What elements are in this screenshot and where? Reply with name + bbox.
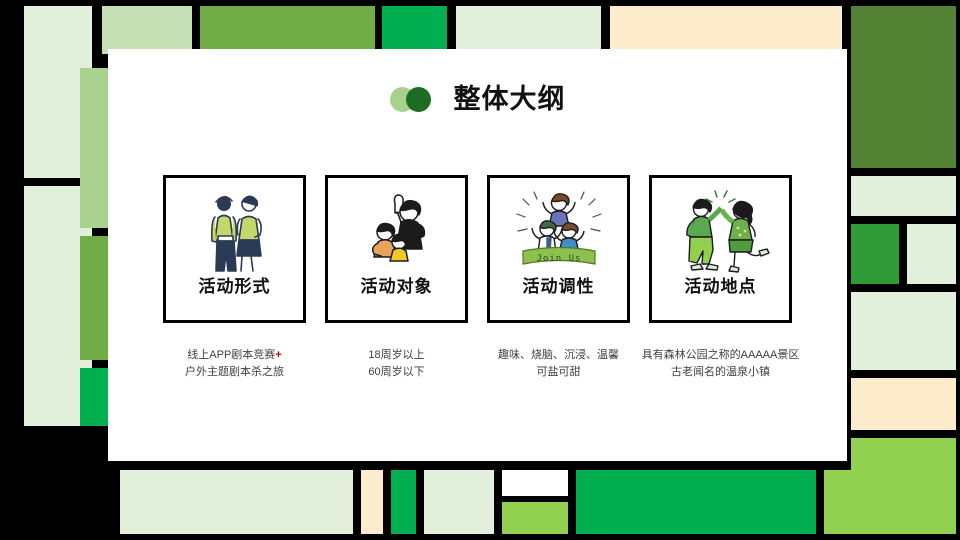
outline-item: 活动形式 线上APP剧本竞赛+ 户外主题剧本杀之旅 [163, 175, 306, 381]
background-tile [456, 6, 601, 54]
background-tile [610, 6, 842, 54]
outline-card-row: 活动形式 线上APP剧本竞赛+ 户外主题剧本杀之旅 [108, 175, 847, 381]
caption-line: 具有森林公园之称的AAAAA景区 [633, 347, 808, 364]
caption-line: 趣味、烧脑、沉浸、温馨 [471, 347, 646, 364]
background-tile [851, 6, 956, 168]
caption-line: 线上APP剧本竞赛 [187, 349, 275, 361]
outline-item: Join Us 活动调性 趣味、烧脑、沉浸、温馨 可盐可甜 [487, 175, 630, 381]
background-tile [907, 224, 956, 284]
caption-line: 60周岁以下 [309, 364, 484, 381]
join-us-team-banner-illustration: Join Us [499, 184, 619, 276]
svg-text:Join Us: Join Us [536, 254, 581, 264]
card-activity-location[interactable]: 活动地点 [649, 175, 792, 323]
background-tile [576, 470, 816, 534]
card-activity-tone[interactable]: Join Us 活动调性 [487, 175, 630, 323]
content-panel: 整体大纲 [108, 49, 847, 461]
background-tile [80, 368, 108, 426]
caption-plus-marker: + [275, 349, 281, 361]
family-cheering-illustration [337, 184, 457, 276]
title-decoration [390, 85, 440, 113]
page-title: 整体大纲 [454, 86, 566, 113]
background-tile [391, 470, 416, 534]
caption-line: 18周岁以上 [309, 347, 484, 364]
two-people-standing-illustration [175, 184, 295, 276]
card-label: 活动形式 [199, 278, 271, 297]
background-tile [424, 470, 494, 534]
slide-canvas: 整体大纲 [0, 0, 960, 540]
background-tile [851, 378, 956, 430]
outline-item: 活动地点 具有森林公园之称的AAAAA景区 古老闻名的温泉小镇 [649, 175, 792, 381]
background-tile [102, 6, 192, 54]
caption-line: 户外主题剧本杀之旅 [147, 364, 322, 381]
card-caption: 18周岁以上 60周岁以下 [309, 347, 484, 381]
card-caption: 趣味、烧脑、沉浸、温馨 可盐可甜 [471, 347, 646, 381]
card-activity-audience[interactable]: 活动对象 [325, 175, 468, 323]
background-tile [120, 470, 353, 534]
caption-line: 古老闻名的温泉小镇 [633, 364, 808, 381]
background-tile [200, 6, 375, 54]
card-caption: 线上APP剧本竞赛+ 户外主题剧本杀之旅 [147, 347, 322, 381]
card-activity-format[interactable]: 活动形式 [163, 175, 306, 323]
background-tile [361, 470, 383, 534]
card-label: 活动对象 [361, 278, 433, 297]
background-tile [80, 68, 108, 228]
background-tile [824, 470, 956, 534]
background-tile [851, 176, 956, 216]
background-tile [80, 236, 108, 360]
background-tile [502, 502, 568, 534]
dark-green-circle-icon [406, 87, 431, 112]
card-caption: 具有森林公园之称的AAAAA景区 古老闻名的温泉小镇 [633, 347, 808, 381]
outline-item: 活动对象 18周岁以上 60周岁以下 [325, 175, 468, 381]
card-label: 活动调性 [523, 278, 595, 297]
card-label: 活动地点 [685, 278, 757, 297]
background-tile [502, 470, 568, 496]
background-tile [382, 6, 447, 54]
slide-title-row: 整体大纲 [108, 85, 847, 113]
caption-line: 可盐可甜 [471, 364, 646, 381]
background-tile [851, 224, 899, 284]
two-people-high-five-illustration [661, 184, 781, 276]
background-tile [851, 292, 956, 370]
